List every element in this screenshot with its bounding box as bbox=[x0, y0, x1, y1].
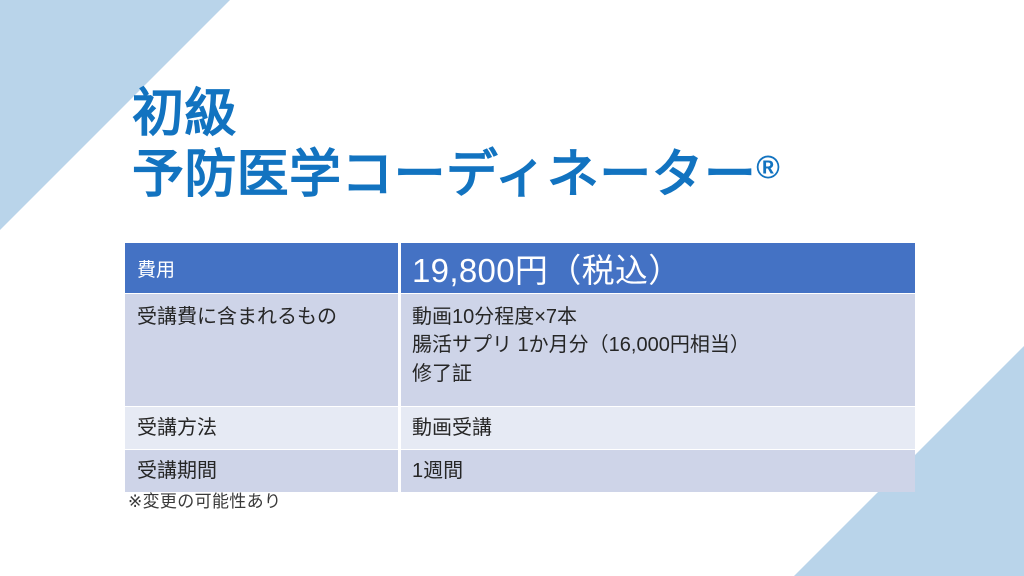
title-line-1: 初級 bbox=[132, 88, 780, 141]
footnote-note: ※変更の可能性あり bbox=[128, 487, 281, 512]
slide-canvas: 初級 予防医学コーディネーター® 費用 19,800円（税込） 受講費に含まれる… bbox=[0, 0, 1024, 576]
title-line-2: 予防医学コーディネーター® bbox=[132, 149, 780, 202]
page-title: 初級 予防医学コーディネーター® bbox=[132, 88, 780, 202]
table-row: 受講方法 動画受講 bbox=[125, 407, 915, 450]
course-details-table: 費用 19,800円（税込） 受講費に含まれるもの 動画10分程度×7本 腸活サ… bbox=[125, 243, 915, 492]
row-value-duration: 1週間 bbox=[400, 450, 915, 493]
header-label-cost: 費用 bbox=[125, 243, 400, 294]
table-row: 受講期間 1週間 bbox=[125, 450, 915, 493]
row-value-method: 動画受講 bbox=[400, 407, 915, 450]
row-value-included: 動画10分程度×7本 腸活サプリ 1か月分（16,000円相当） 修了証 bbox=[400, 294, 915, 407]
table-row-header: 費用 19,800円（税込） bbox=[125, 243, 915, 294]
header-value-price: 19,800円（税込） bbox=[400, 243, 915, 294]
row-label-method: 受講方法 bbox=[125, 407, 400, 450]
title-line-2-text: 予防医学コーディネーター bbox=[132, 146, 756, 204]
table-row: 受講費に含まれるもの 動画10分程度×7本 腸活サプリ 1か月分（16,000円… bbox=[125, 294, 915, 407]
registered-trademark-icon: ® bbox=[756, 149, 780, 185]
row-label-duration: 受講期間 bbox=[125, 450, 400, 493]
row-label-included: 受講費に含まれるもの bbox=[125, 294, 400, 407]
